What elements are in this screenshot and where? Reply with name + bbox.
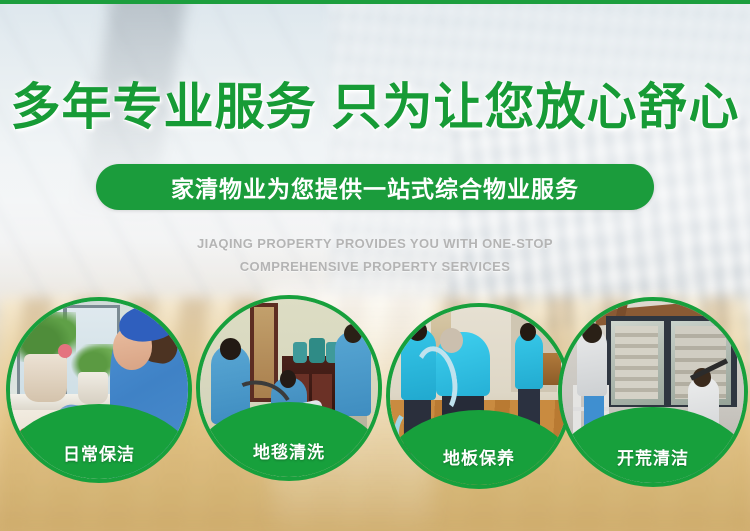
tagline-text: 家清物业为您提供一站式综合物业服务: [171, 170, 579, 204]
tagline-pill: 家清物业为您提供一站式综合物业服务: [96, 164, 654, 210]
service-label-post-construction-cleaning: 开荒清洁: [562, 444, 744, 469]
english-subtitle-line-2: COMPREHENSIVE PROPERTY SERVICES: [0, 255, 750, 278]
promotional-banner: 多年专业服务 只为让您放心舒心 家清物业为您提供一站式综合物业服务 JIAQIN…: [0, 0, 750, 531]
service-label-floor-maintenance: 地板保养: [390, 444, 568, 469]
top-accent-rule: [0, 0, 750, 4]
service-circle-post-construction-cleaning[interactable]: 开荒清洁: [558, 297, 748, 487]
english-subtitle-line-1: JIAQING PROPERTY PROVIDES YOU WITH ONE-S…: [0, 232, 750, 255]
service-circle-daily-cleaning[interactable]: 日常保洁: [6, 297, 192, 483]
service-circle-floor-maintenance[interactable]: 地板保养: [386, 303, 572, 489]
service-circles-row: 日常保洁: [0, 293, 750, 493]
english-subtitle: JIAQING PROPERTY PROVIDES YOU WITH ONE-S…: [0, 232, 750, 278]
page-title: 多年专业服务 只为让您放心舒心: [0, 78, 750, 136]
service-circle-carpet-cleaning[interactable]: 地毯清洗: [196, 295, 382, 481]
service-label-carpet-cleaning: 地毯清洗: [200, 438, 378, 463]
service-label-daily-cleaning: 日常保洁: [10, 440, 188, 465]
